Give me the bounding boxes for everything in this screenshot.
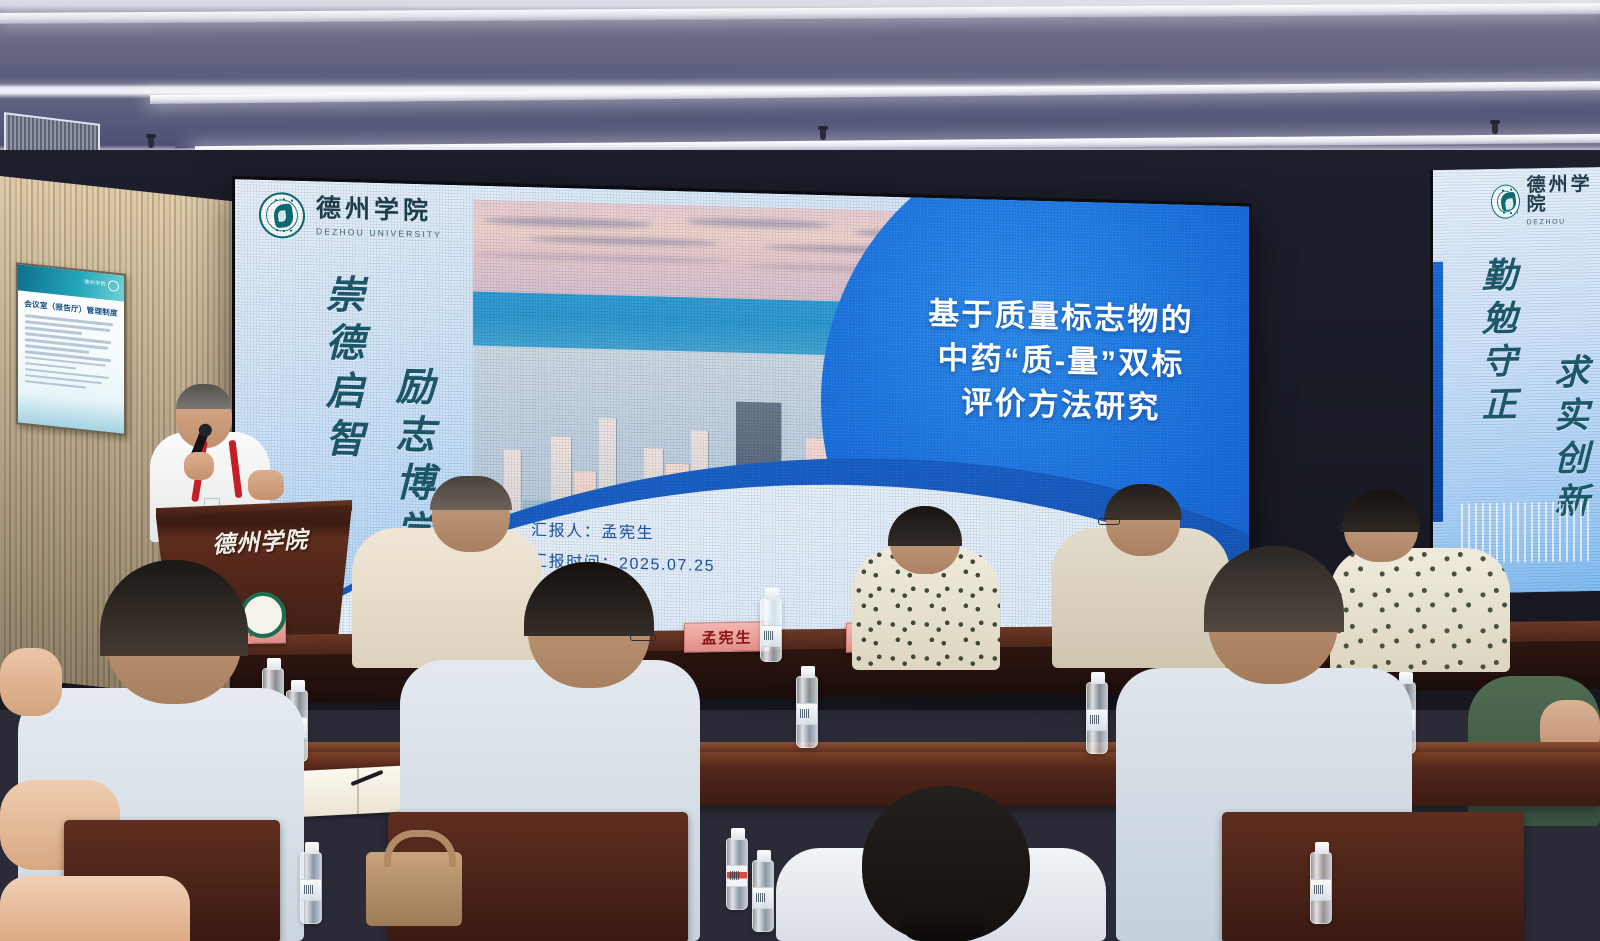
podium-label: 德州学院 [211,520,309,559]
led-screen-right: 德州学院 DEZHOU 勤勉守正 求实创新 [1430,167,1600,594]
water-bottle [760,598,782,662]
water-bottle [796,676,818,748]
poster-body [18,308,124,393]
slide-university-logo: 德州学院 DEZHOU UNIVERSITY [259,192,442,243]
slide-motto-left: 崇德启智 [313,273,369,467]
university-name-cn: 德州学院 [1527,175,1600,214]
attendee-forearm [0,876,190,941]
attendee-ponytail [900,900,986,941]
slide-right-motto-right: 求实创新 [1543,353,1594,526]
speaker-hand [248,470,284,500]
university-name-en: DEZHOU UNIVERSITY [316,226,442,239]
university-name-cn: 德州学院 [316,196,442,224]
ceiling-sprinkler-icon [148,136,154,148]
ceiling-sprinkler-icon [820,128,826,140]
nameplate-card: 孟宪生 [684,621,770,653]
slide-presenter-name: 汇报人：孟宪生 [531,515,715,551]
glasses-icon [630,634,656,641]
university-seal-icon [1491,184,1520,219]
attendee-floral-blouse [1330,548,1510,672]
ceiling-sprinkler-icon [1492,122,1498,134]
conference-chair [1222,812,1524,941]
slide-right-university-logo: 德州学院 DEZHOU [1491,175,1600,227]
water-bottle [752,860,774,932]
glasses-icon [1098,518,1120,525]
speaker-hand [184,452,214,480]
university-seal-icon [259,192,305,239]
slide-title: 基于质量标志物的 中药“质-量”双标 评价方法研究 [875,290,1247,432]
water-bottle [300,852,322,924]
notebook [302,765,412,817]
slide-right-motto-left: 勤勉守正 [1471,256,1522,429]
presentation-slide-right: 德州学院 DEZHOU 勤勉守正 求实创新 [1433,167,1600,594]
wall-poster-frame: 德州学院 会议室（报告厅）管理制度 [16,262,126,436]
glasses-icon [1338,524,1358,531]
water-bottle [1310,852,1332,924]
handbag [366,852,462,926]
poster-logo-label: 德州学院 [84,278,106,287]
lecture-hall-photo: 德州学院 会议室（报告厅）管理制度 [0,0,1600,941]
poster-seal-icon [108,280,119,292]
attendee-hand [0,648,62,716]
attendee-shirt [352,528,542,668]
water-bottle [1086,682,1108,754]
water-bottle [726,838,748,910]
university-name-en: DEZHOU [1527,218,1600,226]
slide-right-blue-edge [1430,262,1443,522]
